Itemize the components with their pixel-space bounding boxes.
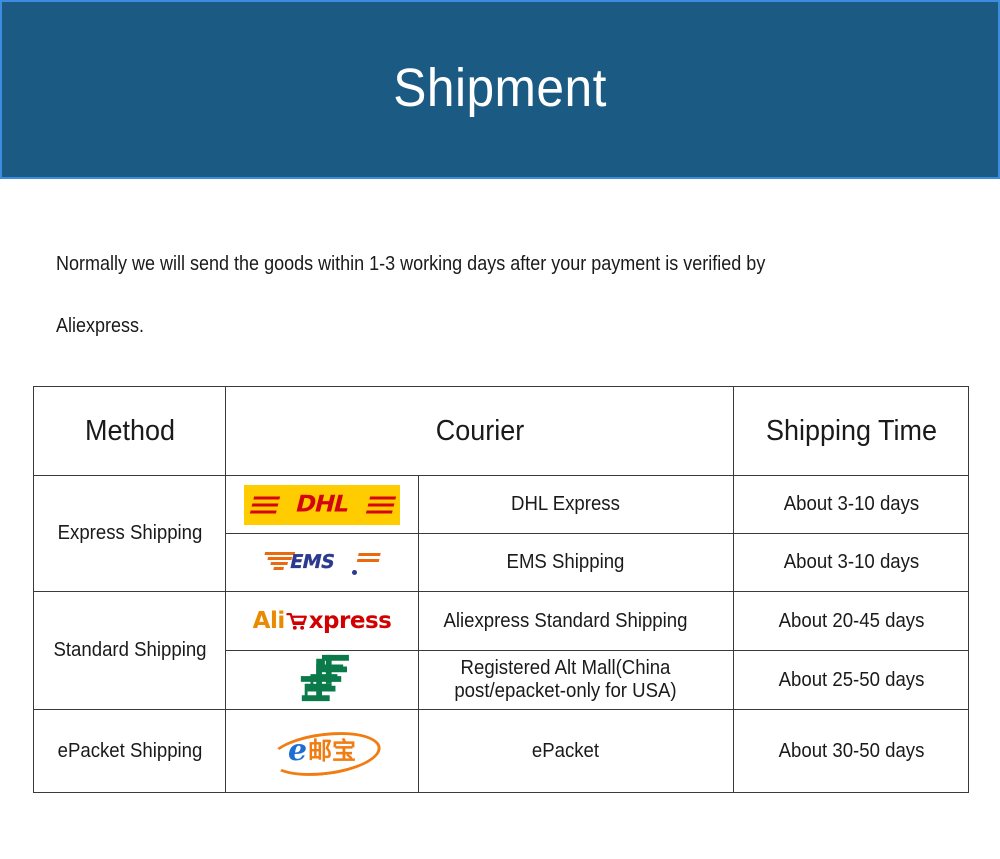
page-title: Shipment: [393, 61, 607, 115]
aliexpress-logo-text-ali: Ali: [253, 610, 285, 633]
table-row: ePacket Shipping e 邮宝 ePacket About 30-5…: [34, 710, 969, 793]
header-courier: Courier: [243, 387, 715, 476]
logo-cell-china-post: [226, 651, 419, 710]
dhl-stripes-left-icon: [250, 496, 280, 513]
courier-name-dhl: DHL Express: [419, 476, 712, 534]
shipping-time-china-post: About 25-50 days: [742, 651, 961, 710]
ems-logo: EMS: [263, 546, 381, 580]
courier-name-china-post: Registered Alt Mall(China post/epacket-o…: [419, 651, 712, 710]
courier-name-ems: EMS Shipping: [419, 534, 712, 592]
table-row: Express Shipping DHL DHL Express About 3: [34, 476, 969, 534]
logo-cell-ems: EMS: [226, 534, 419, 592]
logo-cell-aliexpress: Ali xpress: [226, 592, 419, 651]
ems-logo-text: EMS: [288, 553, 336, 572]
courier-name-epacket: ePacket: [419, 710, 712, 793]
header-shipping-time: Shipping Time: [742, 387, 961, 476]
header-method: Method: [40, 387, 219, 476]
dhl-stripes-right-icon: [366, 496, 396, 513]
method-express-shipping: Express Shipping: [40, 476, 219, 592]
epacket-logo: e 邮宝: [267, 729, 377, 773]
logo-cell-epacket: e 邮宝: [226, 710, 419, 793]
shipping-time-aliexpress: About 20-45 days: [742, 592, 961, 651]
method-standard-shipping: Standard Shipping: [40, 592, 219, 710]
shipping-time-epacket: About 30-50 days: [742, 710, 961, 793]
dhl-logo: DHL: [244, 485, 400, 525]
table-row: Standard Shipping Ali xpr: [34, 592, 969, 651]
courier-name-aliexpress: Aliexpress Standard Shipping: [419, 592, 712, 651]
aliexpress-logo: Ali xpress: [253, 610, 392, 633]
shopping-cart-icon: [286, 610, 308, 632]
ems-registered-dot-icon: [352, 570, 357, 575]
shipping-time-ems: About 3-10 days: [742, 534, 961, 592]
epacket-logo-text-cn: 邮宝: [308, 739, 356, 763]
dhl-logo-text: DHL: [293, 493, 351, 516]
aliexpress-logo-text-xpress: xpress: [309, 610, 392, 633]
ems-swoosh-right-icon: [355, 553, 382, 569]
china-post-logo: [293, 653, 351, 708]
method-epacket-shipping: ePacket Shipping: [40, 710, 219, 793]
intro-paragraph: Normally we will send the goods within 1…: [56, 233, 866, 357]
shipping-time-dhl: About 3-10 days: [742, 476, 961, 534]
logo-cell-dhl: DHL: [226, 476, 419, 534]
shipping-methods-table: Method Courier Shipping Time Express Shi…: [33, 386, 969, 793]
table-header-row: Method Courier Shipping Time: [34, 387, 969, 476]
epacket-logo-letter-e: e: [288, 736, 307, 766]
page-header-banner: Shipment: [0, 0, 1000, 179]
